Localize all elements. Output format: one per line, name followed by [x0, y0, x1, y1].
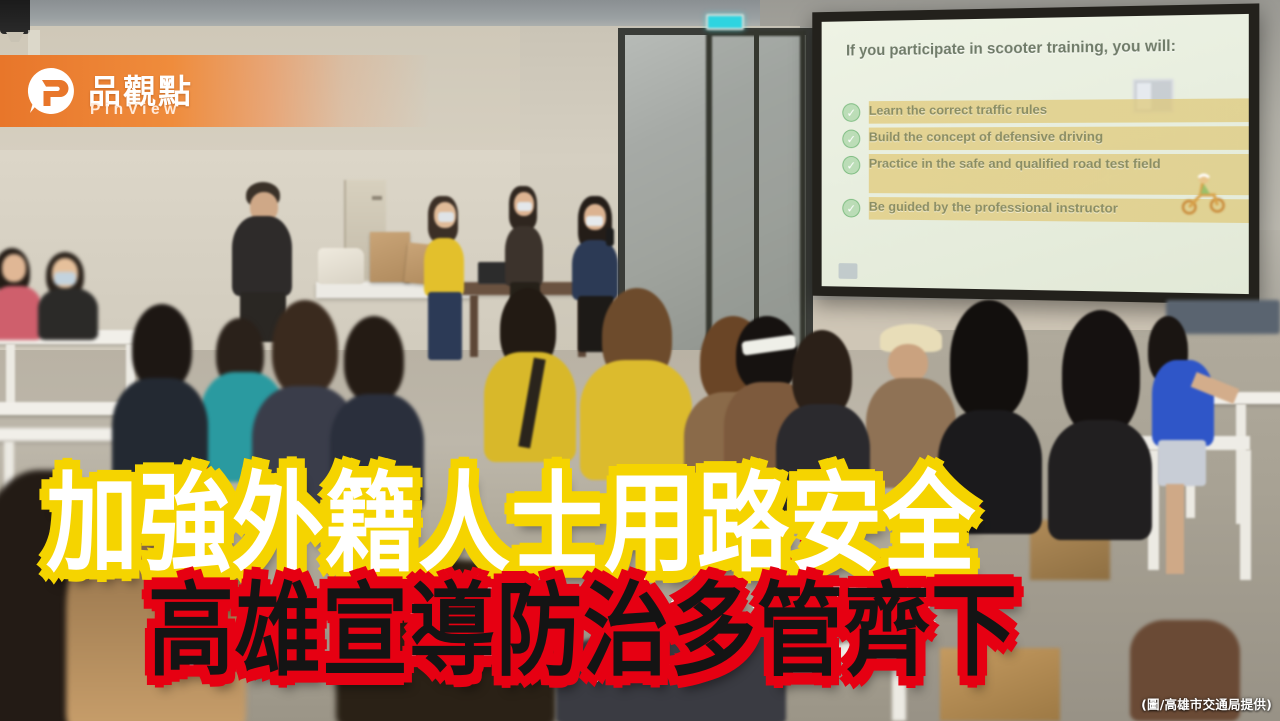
wooden-chair	[940, 648, 1060, 721]
scooter-rider-icon	[1176, 170, 1230, 215]
table-leg	[1240, 450, 1251, 580]
slide-bullet-item: ✓ Learn the correct traffic rules	[842, 100, 1244, 121]
white-bag	[318, 248, 364, 284]
shorts	[1158, 440, 1206, 486]
door-split	[754, 30, 759, 360]
brand-name-en: PinView	[90, 101, 181, 119]
cabinet-handle	[372, 196, 382, 200]
bench-leg	[892, 640, 906, 721]
check-circle-icon: ✓	[842, 103, 860, 122]
bullet-text: Practice in the safe and qualified road …	[869, 156, 1161, 173]
table-leg	[470, 295, 478, 357]
photo-credit: (圖/高雄市交通局提供)	[1141, 694, 1272, 713]
slide-bullet-item: ✓ Build the concept of defensive driving	[842, 128, 1244, 148]
wall-speaker-icon	[0, 0, 30, 34]
corner-logo-icon	[839, 263, 858, 279]
bullet-text: Learn the correct traffic rules	[869, 102, 1047, 119]
projection-screen: If you participate in scooter training, …	[812, 3, 1259, 304]
check-circle-icon: ✓	[842, 199, 860, 218]
exit-sign-icon	[706, 14, 744, 30]
bullet-text: Build the concept of defensive driving	[869, 129, 1103, 146]
news-image-canvas: If you participate in scooter training, …	[0, 0, 1280, 721]
microphone-icon	[606, 228, 614, 246]
face-mask	[54, 272, 76, 285]
table-leg	[6, 344, 15, 408]
pinview-p-speech-bubble-logo	[26, 66, 76, 116]
slide-heading: If you participate in scooter training, …	[846, 37, 1229, 61]
bullet-text: Be guided by the professional instructor	[869, 199, 1118, 217]
leg	[1166, 484, 1184, 574]
check-circle-icon: ✓	[842, 130, 860, 149]
pinview-watermark-bar: 品觀點 PinView	[0, 55, 430, 127]
check-circle-icon: ✓	[842, 156, 860, 175]
slide-content: If you participate in scooter training, …	[822, 14, 1249, 294]
